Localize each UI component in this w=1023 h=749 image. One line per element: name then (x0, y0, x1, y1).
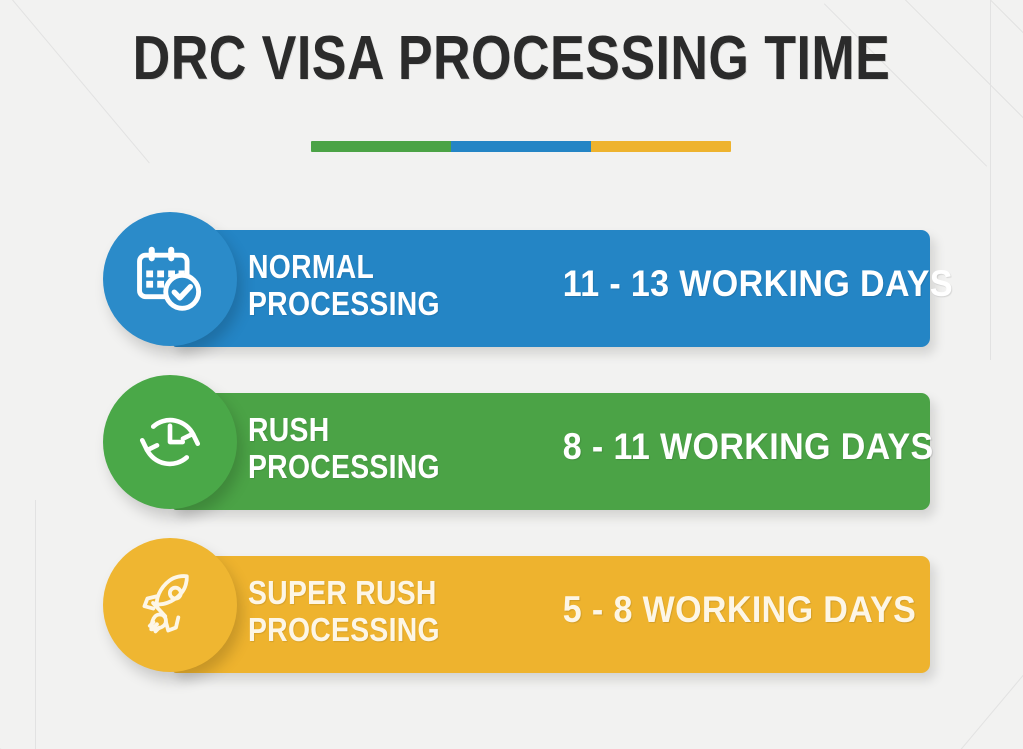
option-icon-badge (103, 375, 237, 509)
option-label-line1: RUSH (248, 411, 329, 448)
calendar-check-icon (131, 240, 209, 318)
option-icon-badge (103, 212, 237, 346)
option-label-line2: PROCESSING (248, 285, 506, 322)
processing-option-row[interactable]: NORMAL PROCESSING 11 - 13 WORKING DAYS (0, 212, 1023, 380)
option-label-line2: PROCESSING (248, 448, 506, 485)
option-label: SUPER RUSH PROCESSING (248, 574, 506, 648)
option-label-line2: PROCESSING (248, 611, 506, 648)
option-duration-value: 5 - 8 WORKING DAYS (563, 588, 903, 632)
option-duration-value: 8 - 11 WORKING DAYS (563, 425, 903, 469)
option-label-line1: SUPER RUSH (248, 574, 437, 611)
option-label: NORMAL PROCESSING (248, 248, 506, 322)
processing-options-list: NORMAL PROCESSING 11 - 13 WORKING DAYS (0, 0, 1023, 749)
infographic-poster: DRC VISA PROCESSING TIME (0, 0, 1023, 749)
option-icon-badge (103, 538, 237, 672)
processing-option-row[interactable]: RUSH PROCESSING 8 - 11 WORKING DAYS (0, 375, 1023, 543)
rocket-icon (132, 567, 208, 643)
clock-refresh-icon (133, 405, 207, 479)
option-duration-value: 11 - 13 WORKING DAYS (563, 262, 903, 306)
option-label-line1: NORMAL (248, 248, 374, 285)
option-label: RUSH PROCESSING (248, 411, 506, 485)
processing-option-row[interactable]: SUPER RUSH PROCESSING 5 - 8 WORKING DAYS (0, 538, 1023, 706)
